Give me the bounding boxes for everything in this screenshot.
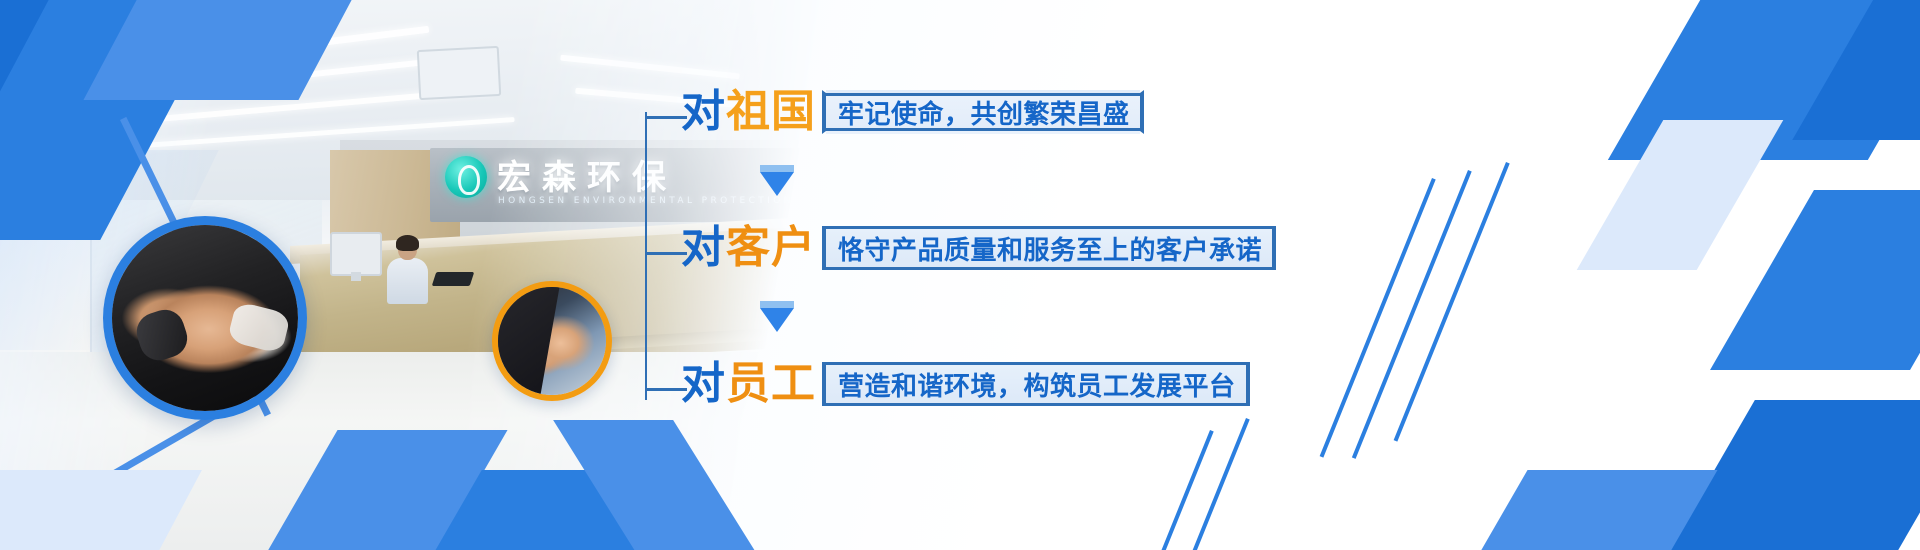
receptionist: [385, 238, 429, 302]
deco-thin-line: [1394, 162, 1510, 442]
commitment-statement-2: 恪守产品质量和服务至上的客户承诺: [822, 226, 1276, 270]
commitment-prefix-1: 对: [681, 86, 726, 137]
applause-image: [498, 287, 606, 395]
applause-circle-photo: [492, 281, 612, 401]
deco-parallelogram-light: [1577, 120, 1784, 270]
commitments-list: 对祖国 牢记使命，共创繁荣昌盛 对客户 恪守产品质量和服务至上的客户承诺 对员工…: [645, 66, 1365, 486]
commitment-target-3: 员工: [726, 358, 816, 409]
desk-monitor: [330, 232, 382, 276]
commitment-label-1: 对祖国: [681, 90, 816, 134]
commitment-target-1: 祖国: [726, 86, 816, 137]
desk-keyboard: [432, 272, 475, 286]
brand-logo-icon: [445, 156, 487, 198]
commitment-statement-3: 营造和谐环境，构筑员工发展平台: [822, 362, 1250, 406]
commitment-prefix-2: 对: [681, 222, 726, 273]
down-arrow-icon: [760, 308, 794, 332]
commitment-row-2: 对客户 恪守产品质量和服务至上的客户承诺: [681, 226, 1276, 270]
bracket-connector-line: [645, 112, 647, 400]
deco-parallelogram: [1452, 470, 1717, 550]
down-arrow-icon: [760, 172, 794, 196]
deco-thin-line: [1352, 170, 1472, 459]
deco-parallelogram: [1710, 190, 1920, 370]
ceiling-vent: [417, 46, 502, 100]
commitment-row-3: 对员工 营造和谐环境，构筑员工发展平台: [681, 362, 1250, 406]
commitment-row-1: 对祖国 牢记使命，共创繁荣昌盛: [681, 90, 1144, 134]
commitment-prefix-3: 对: [681, 358, 726, 409]
commitment-target-2: 客户: [726, 222, 816, 273]
commitment-label-3: 对员工: [681, 362, 816, 406]
handshake-image: [112, 225, 298, 411]
company-values-banner: 宏森环保 HONGSEN ENVIRONMENTAL PROTECTION: [0, 0, 1920, 550]
deco-parallelogram: [1792, 0, 1920, 140]
commitment-statement-1: 牢记使命，共创繁荣昌盛: [822, 90, 1144, 134]
deco-parallelogram: [1608, 0, 1920, 160]
handshake-circle-photo: [103, 216, 307, 420]
deco-parallelogram: [1645, 400, 1920, 550]
commitment-label-2: 对客户: [681, 226, 816, 270]
